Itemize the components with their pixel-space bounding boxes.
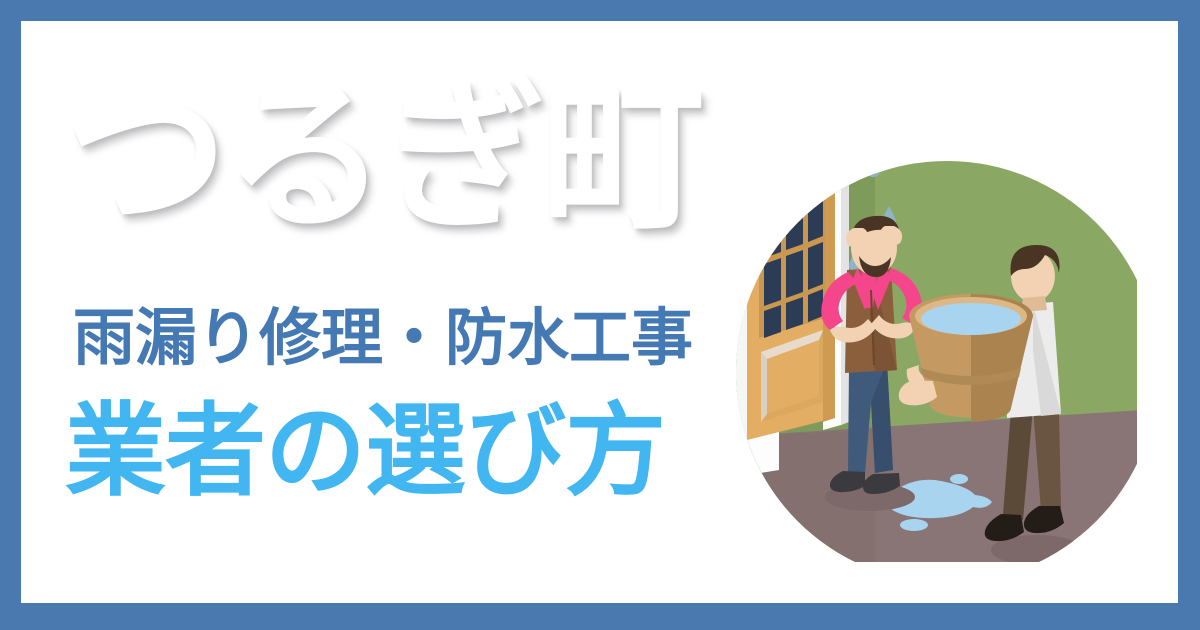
poster-canvas: つるぎ町 雨漏り修理・防水工事 業者の選び方 — [0, 0, 1200, 630]
headline: 業者の選び方 — [65, 402, 665, 503]
wooden-door — [747, 160, 835, 440]
poster-inner-area: つるぎ町 雨漏り修理・防水工事 業者の選び方 — [21, 21, 1178, 603]
text-block: つるぎ町 雨漏り修理・防水工事 業者の選び方 — [21, 21, 741, 603]
roof-leak-illustration — [715, 140, 1137, 562]
subtitle: 雨漏り修理・防水工事 — [73, 308, 693, 370]
bucket-water — [921, 303, 1021, 335]
door-glass-panes — [764, 191, 823, 338]
page-title: つるぎ町 — [65, 76, 701, 239]
